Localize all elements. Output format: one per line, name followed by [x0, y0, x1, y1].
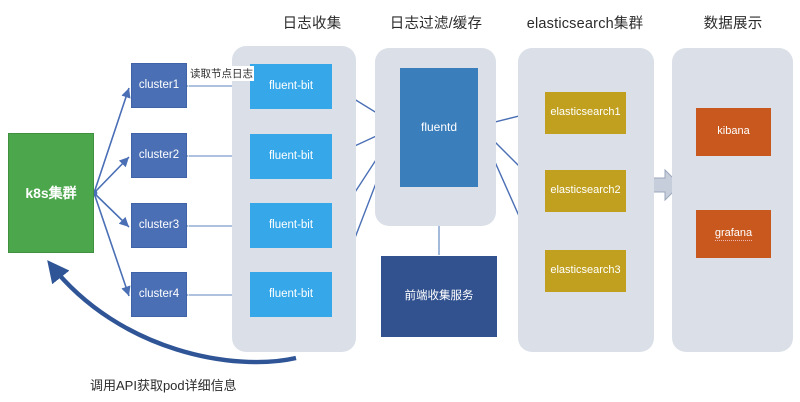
node-grafana[interactable]: grafana [696, 210, 771, 258]
node-frontend-collect-service[interactable]: 前端收集服务 [381, 256, 497, 337]
node-fluent-bit-3[interactable]: fluent-bit [250, 203, 332, 248]
node-fluent-bit-4[interactable]: fluent-bit [250, 272, 332, 317]
node-fluentd[interactable]: fluentd [400, 68, 478, 187]
diagram-canvas: 日志收集 日志过滤/缓存 elasticsearch集群 数据展示 k8s集群 … [0, 0, 800, 402]
read-node-log-label: 读取节点日志 [189, 66, 254, 81]
node-cluster2[interactable]: cluster2 [131, 133, 187, 178]
node-kibana[interactable]: kibana [696, 108, 771, 156]
group-title-data-display: 数据展示 [673, 12, 793, 33]
group-title-log-filter: 日志过滤/缓存 [376, 12, 496, 33]
api-pod-caption: 调用API获取pod详细信息 [90, 375, 237, 394]
node-cluster4[interactable]: cluster4 [131, 272, 187, 317]
group-title-log-collection: 日志收集 [252, 12, 372, 33]
node-elasticsearch1[interactable]: elasticsearch1 [545, 92, 626, 134]
node-elasticsearch2[interactable]: elasticsearch2 [545, 170, 626, 212]
node-fluent-bit-1[interactable]: fluent-bit [250, 64, 332, 109]
node-elasticsearch3[interactable]: elasticsearch3 [545, 250, 626, 292]
node-cluster3[interactable]: cluster3 [131, 203, 187, 248]
data-display-panel [672, 48, 793, 352]
node-fluent-bit-2[interactable]: fluent-bit [250, 134, 332, 179]
node-grafana-label: grafana [715, 227, 752, 241]
group-title-elasticsearch: elasticsearch集群 [515, 12, 655, 33]
node-cluster1[interactable]: cluster1 [131, 63, 187, 108]
k8s-to-cluster-edges [94, 88, 129, 296]
node-k8s-cluster[interactable]: k8s集群 [8, 133, 94, 253]
